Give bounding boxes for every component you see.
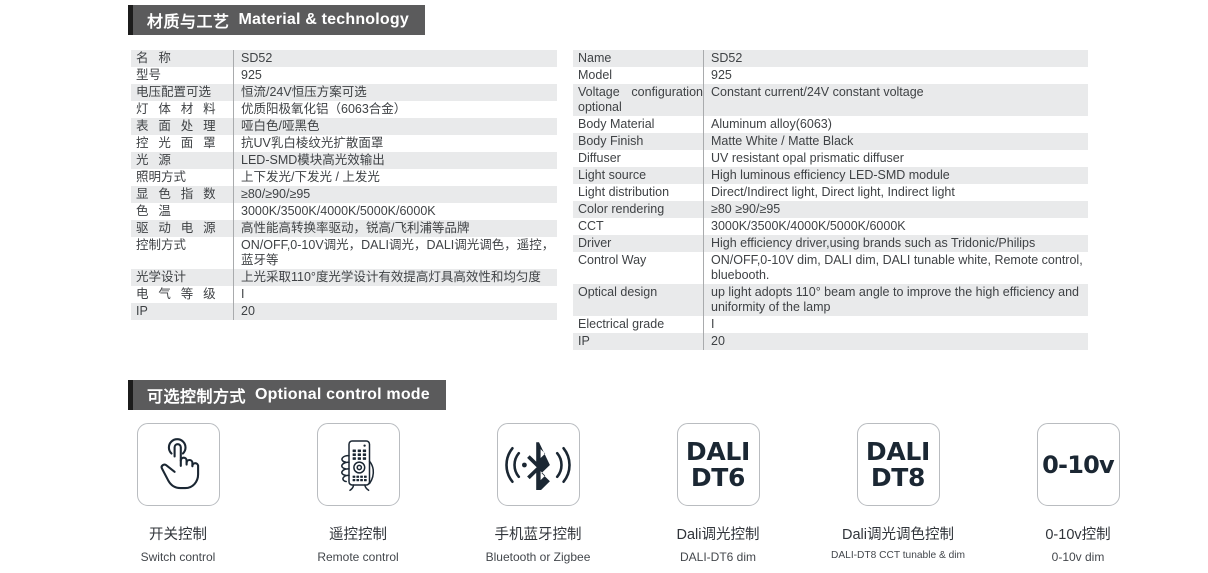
table-row: 光 源LED-SMD模块高光效输出 bbox=[131, 152, 557, 169]
section-header-material-title-cn: 材质与工艺 bbox=[147, 8, 230, 32]
spec-value: 上光采取110°度光学设计有效提高灯具高效性和均匀度 bbox=[234, 269, 558, 286]
table-row: 表 面 处 理哑白色/哑黑色 bbox=[131, 118, 557, 135]
control-mode-label-cn: 开关控制 bbox=[149, 523, 207, 544]
spec-label: 电压配置可选 bbox=[131, 84, 234, 101]
table-row: Optical designup light adopts 110° beam … bbox=[573, 284, 1088, 316]
table-row: 电 气 等 级I bbox=[131, 286, 557, 303]
spec-value: I bbox=[704, 316, 1089, 333]
spec-label: Body Material bbox=[573, 116, 704, 133]
spec-label: 控 光 面 罩 bbox=[131, 135, 234, 152]
table-row: 控制方式ON/OFF,0-10V调光，DALI调光，DALI调光调色，遥控，蓝牙… bbox=[131, 237, 557, 269]
spec-label-text: Voltage configuration optional bbox=[578, 85, 703, 115]
spec-value: 抗UV乳白棱纹光扩散面罩 bbox=[234, 135, 558, 152]
table-row: 照明方式上下发光/下发光 / 上发光 bbox=[131, 169, 557, 186]
remote-control-icon[interactable] bbox=[317, 423, 400, 506]
spec-label: Diffuser bbox=[573, 150, 704, 167]
badge-text: 0-10v bbox=[1042, 451, 1114, 479]
control-mode-item-bluetooth-waves[interactable]: 手机蓝牙控制Bluetooth or Zigbee bbox=[488, 423, 588, 564]
spec-label: 表 面 处 理 bbox=[131, 118, 234, 135]
hand-tap-icon-glyph bbox=[152, 436, 204, 494]
table-row: DiffuserUV resistant opal prismatic diff… bbox=[573, 150, 1088, 167]
control-mode-list: 开关控制Switch control bbox=[128, 423, 1128, 564]
spec-label: Color rendering bbox=[573, 201, 704, 218]
section-header-control-mode: 可选控制方式 Optional control mode bbox=[128, 380, 446, 410]
control-mode-item-remote-control[interactable]: 遥控控制Remote control bbox=[308, 423, 408, 564]
table-row: Electrical gradeI bbox=[573, 316, 1088, 333]
spec-value: Direct/Indirect light, Direct light, Ind… bbox=[704, 184, 1089, 201]
spec-label: 显 色 指 数 bbox=[131, 186, 234, 203]
control-mode-label-en: Switch control bbox=[141, 550, 216, 564]
spec-value: Matte White / Matte Black bbox=[704, 133, 1089, 150]
table-row: Color rendering≥80 ≥90/≥95 bbox=[573, 201, 1088, 218]
zero-to-ten-volt-badge[interactable]: 0-10v bbox=[1037, 423, 1120, 506]
spec-table-chinese-body: 名 称SD52型号925电压配置可选恒流/24V恒压方案可选灯 体 材 料优质阳… bbox=[131, 50, 557, 320]
control-mode-label-en: DALI-DT8 CCT tunable & dim bbox=[831, 550, 965, 561]
spec-value: SD52 bbox=[234, 50, 558, 67]
control-mode-label-en: Remote control bbox=[317, 550, 398, 564]
table-row: DriverHigh efficiency driver,using brand… bbox=[573, 235, 1088, 252]
table-row: Voltage configuration optionalConstant c… bbox=[573, 84, 1088, 116]
spec-label: Control Way bbox=[573, 252, 704, 284]
table-row: IP20 bbox=[131, 303, 557, 320]
control-mode-label-en: 0-10v dim bbox=[1052, 550, 1105, 564]
spec-value: SD52 bbox=[704, 50, 1089, 67]
spec-label: 灯 体 材 料 bbox=[131, 101, 234, 118]
badge-text-line1: DALI bbox=[686, 439, 750, 465]
spec-label: Light source bbox=[573, 167, 704, 184]
table-row: 光学设计上光采取110°度光学设计有效提高灯具高效性和均匀度 bbox=[131, 269, 557, 286]
spec-value: High luminous efficiency LED-SMD module bbox=[704, 167, 1089, 184]
table-row: 控 光 面 罩抗UV乳白棱纹光扩散面罩 bbox=[131, 135, 557, 152]
table-row: Body MaterialAluminum alloy(6063) bbox=[573, 116, 1088, 133]
spec-label: IP bbox=[573, 333, 704, 350]
spec-label: CCT bbox=[573, 218, 704, 235]
spec-value: I bbox=[234, 286, 558, 303]
table-row: 型号925 bbox=[131, 67, 557, 84]
spec-value: 哑白色/哑黑色 bbox=[234, 118, 558, 135]
table-row: 名 称SD52 bbox=[131, 50, 557, 67]
table-row: Model925 bbox=[573, 67, 1088, 84]
spec-value: Aluminum alloy(6063) bbox=[704, 116, 1089, 133]
table-row: CCT3000K/3500K/4000K/5000K/6000K bbox=[573, 218, 1088, 235]
badge-text: DALIDT8 bbox=[866, 439, 930, 491]
spec-table-chinese: 名 称SD52型号925电压配置可选恒流/24V恒压方案可选灯 体 材 料优质阳… bbox=[131, 50, 557, 320]
bluetooth-waves-icon[interactable] bbox=[497, 423, 580, 506]
spec-table-english: NameSD52Model925Voltage configuration op… bbox=[573, 50, 1088, 350]
table-row: Body FinishMatte White / Matte Black bbox=[573, 133, 1088, 150]
control-mode-label-en: DALI-DT6 dim bbox=[680, 550, 756, 564]
spec-value: 3000K/3500K/4000K/5000K/6000K bbox=[704, 218, 1089, 235]
control-mode-item-dali-dt6[interactable]: DALIDT6Dali调光控制DALI-DT6 dim bbox=[668, 423, 768, 564]
spec-value: 20 bbox=[704, 333, 1089, 350]
spec-value: up light adopts 110° beam angle to impro… bbox=[704, 284, 1089, 316]
spec-label: 名 称 bbox=[131, 50, 234, 67]
spec-label: 色 温 bbox=[131, 203, 234, 220]
spec-label: Optical design bbox=[573, 284, 704, 316]
bluetooth-waves-icon-glyph bbox=[505, 440, 571, 490]
badge-text-line2: DT6 bbox=[686, 465, 750, 491]
spec-value: ≥80/≥90/≥95 bbox=[234, 186, 558, 203]
spec-value: 925 bbox=[234, 67, 558, 84]
spec-value: LED-SMD模块高光效输出 bbox=[234, 152, 558, 169]
section-header-control-title-en: Optional control mode bbox=[255, 386, 430, 404]
control-mode-item-zero-to-ten-volt[interactable]: 0-10v0-10v控制0-10v dim bbox=[1028, 423, 1128, 564]
spec-value: Constant current/24V constant voltage bbox=[704, 84, 1089, 116]
spec-value: 优质阳极氧化铝（6063合金） bbox=[234, 101, 558, 118]
badge-text-line1: DALI bbox=[866, 439, 930, 465]
spec-label: Name bbox=[573, 50, 704, 67]
spec-label: Model bbox=[573, 67, 704, 84]
table-row: Light sourceHigh luminous efficiency LED… bbox=[573, 167, 1088, 184]
control-mode-item-dali-dt8[interactable]: DALIDT8Dali调光调色控制DALI-DT8 CCT tunable & … bbox=[848, 423, 948, 564]
section-header-material: 材质与工艺 Material & technology bbox=[128, 5, 425, 35]
control-mode-label-cn: 遥控控制 bbox=[329, 523, 387, 544]
table-row: Light distributionDirect/Indirect light,… bbox=[573, 184, 1088, 201]
spec-value: 恒流/24V恒压方案可选 bbox=[234, 84, 558, 101]
table-row: 显 色 指 数≥80/≥90/≥95 bbox=[131, 186, 557, 203]
spec-table-english-body: NameSD52Model925Voltage configuration op… bbox=[573, 50, 1088, 350]
spec-label: Electrical grade bbox=[573, 316, 704, 333]
spec-label: Driver bbox=[573, 235, 704, 252]
table-row: Control WayON/OFF,0-10V dim, DALI dim, D… bbox=[573, 252, 1088, 284]
spec-value: 925 bbox=[704, 67, 1089, 84]
table-row: 电压配置可选恒流/24V恒压方案可选 bbox=[131, 84, 557, 101]
dali-dt6-badge[interactable]: DALIDT6 bbox=[677, 423, 760, 506]
badge-text: DALIDT6 bbox=[686, 439, 750, 491]
control-mode-label-cn: Dali调光调色控制 bbox=[842, 523, 954, 544]
table-row: 色 温3000K/3500K/4000K/5000K/6000K bbox=[131, 203, 557, 220]
table-row: IP20 bbox=[573, 333, 1088, 350]
spec-value: 上下发光/下发光 / 上发光 bbox=[234, 169, 558, 186]
table-row: 灯 体 材 料优质阳极氧化铝（6063合金） bbox=[131, 101, 557, 118]
control-mode-label-cn: Dali调光控制 bbox=[677, 523, 760, 544]
section-header-control-title-cn: 可选控制方式 bbox=[147, 383, 246, 407]
spec-value: 3000K/3500K/4000K/5000K/6000K bbox=[234, 203, 558, 220]
table-row: NameSD52 bbox=[573, 50, 1088, 67]
spec-value: ≥80 ≥90/≥95 bbox=[704, 201, 1089, 218]
spec-label: IP bbox=[131, 303, 234, 320]
control-mode-item-hand-tap[interactable]: 开关控制Switch control bbox=[128, 423, 228, 564]
spec-label: 照明方式 bbox=[131, 169, 234, 186]
spec-label: Body Finish bbox=[573, 133, 704, 150]
spec-label: Voltage configuration optional bbox=[573, 84, 704, 116]
remote-control-icon-glyph bbox=[328, 435, 388, 495]
spec-value: ON/OFF,0-10V dim, DALI dim, DALI tunable… bbox=[704, 252, 1089, 284]
control-mode-label-en: Bluetooth or Zigbee bbox=[486, 550, 591, 564]
control-mode-label-cn: 手机蓝牙控制 bbox=[495, 523, 582, 544]
spec-label: 电 气 等 级 bbox=[131, 286, 234, 303]
control-mode-label-cn: 0-10v控制 bbox=[1045, 523, 1110, 544]
spec-value: 高性能高转换率驱动，锐高/飞利浦等品牌 bbox=[234, 220, 558, 237]
spec-value: 20 bbox=[234, 303, 558, 320]
spec-value: High efficiency driver,using brands such… bbox=[704, 235, 1089, 252]
section-header-material-title-en: Material & technology bbox=[239, 11, 409, 29]
spec-label: 光学设计 bbox=[131, 269, 234, 286]
dali-dt8-badge[interactable]: DALIDT8 bbox=[857, 423, 940, 506]
spec-value: ON/OFF,0-10V调光，DALI调光，DALI调光调色，遥控，蓝牙等 bbox=[234, 237, 558, 269]
spec-label: 型号 bbox=[131, 67, 234, 84]
spec-label: 驱 动 电 源 bbox=[131, 220, 234, 237]
spec-value: UV resistant opal prismatic diffuser bbox=[704, 150, 1089, 167]
spec-label: 控制方式 bbox=[131, 237, 234, 269]
hand-tap-icon[interactable] bbox=[137, 423, 220, 506]
spec-label: Light distribution bbox=[573, 184, 704, 201]
spec-label: 光 源 bbox=[131, 152, 234, 169]
table-row: 驱 动 电 源高性能高转换率驱动，锐高/飞利浦等品牌 bbox=[131, 220, 557, 237]
badge-text-line2: DT8 bbox=[866, 465, 930, 491]
